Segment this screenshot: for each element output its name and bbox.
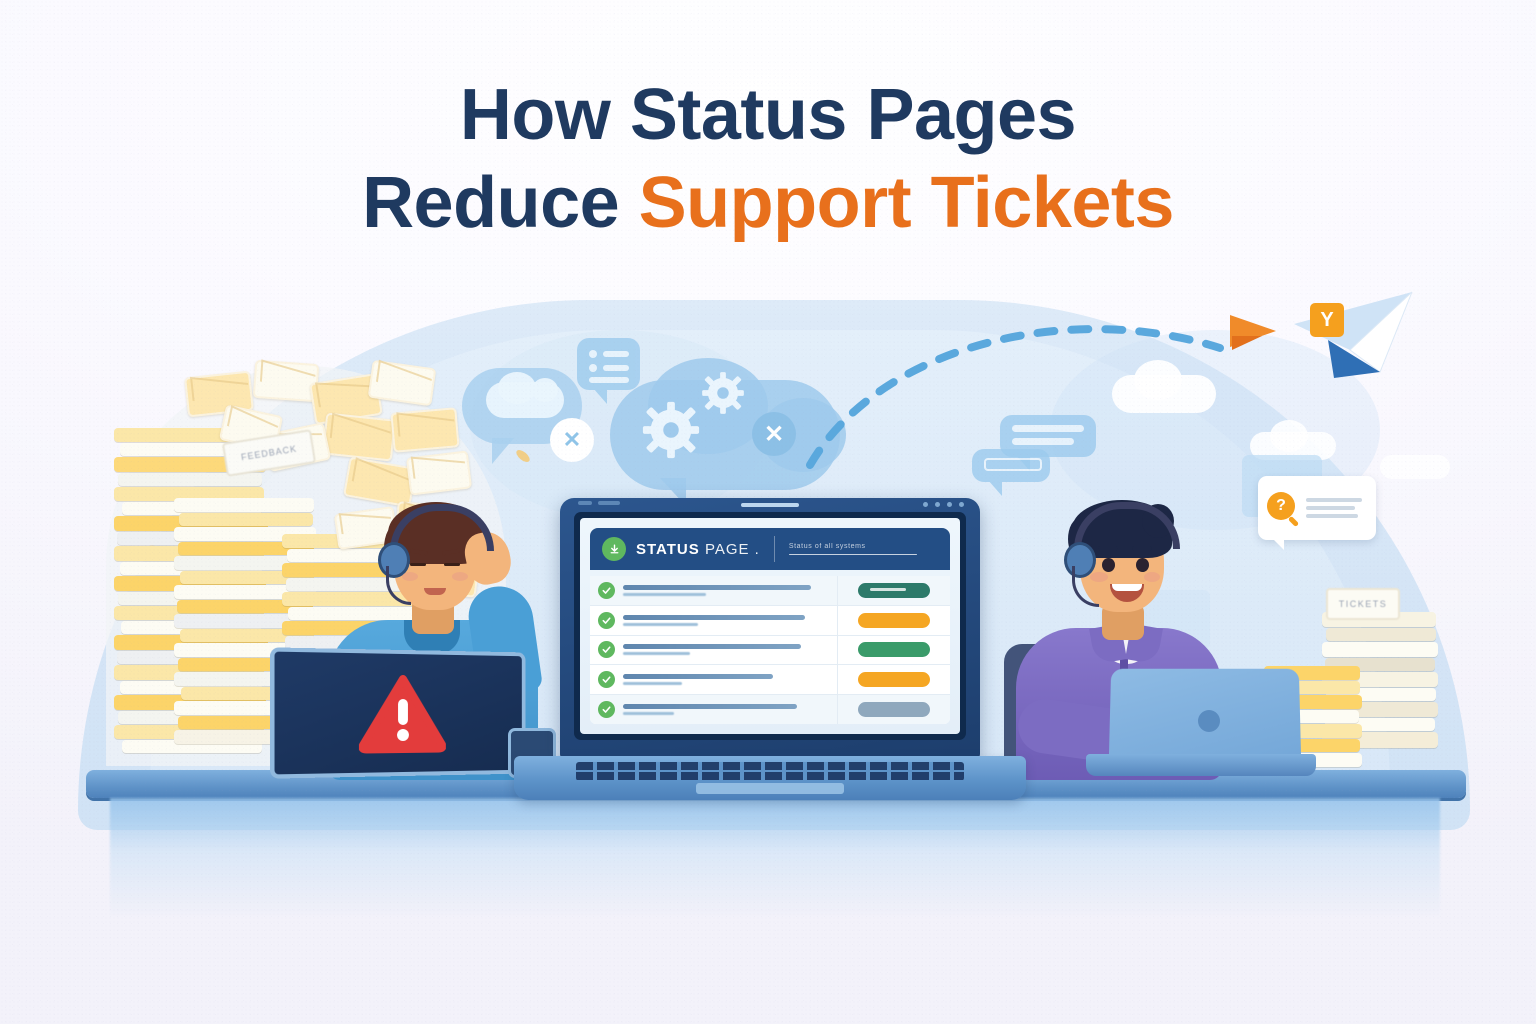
title-line-1: How Status Pages bbox=[0, 72, 1536, 160]
row-status-cell bbox=[837, 665, 950, 694]
row-text-placeholder bbox=[623, 644, 829, 655]
cloud-icon bbox=[1380, 455, 1450, 479]
paper-plane-icon bbox=[1232, 336, 1262, 350]
cheek-blush bbox=[452, 572, 468, 581]
table-row[interactable] bbox=[590, 606, 950, 636]
eyebrow bbox=[1132, 546, 1152, 551]
cheek-blush bbox=[1144, 572, 1160, 582]
check-circle-icon bbox=[598, 582, 615, 599]
page-title: How Status Pages Reduce Support Tickets bbox=[0, 72, 1536, 248]
x-circle-icon: ✕ bbox=[752, 412, 796, 456]
card-text-lines bbox=[1306, 498, 1367, 518]
illustration-canvas: ✕ bbox=[0, 0, 1536, 1024]
check-circle-icon bbox=[598, 671, 615, 688]
chat-bubble-icon bbox=[577, 338, 640, 390]
laptop-bezel-marks bbox=[578, 501, 620, 505]
laptop-screen-bezel: STATUS PAGE . Status of all systems bbox=[574, 512, 966, 740]
row-text-placeholder bbox=[623, 615, 829, 626]
laptop-trackpad[interactable] bbox=[696, 783, 844, 794]
check-circle-icon bbox=[598, 612, 615, 629]
check-circle-icon bbox=[598, 701, 615, 718]
dashed-arc-icon bbox=[800, 290, 1360, 470]
status-badge bbox=[858, 613, 930, 628]
row-status-cell bbox=[837, 576, 950, 605]
mouth-frown-icon bbox=[424, 588, 446, 595]
row-text-placeholder bbox=[623, 674, 829, 685]
badge-icon: Y bbox=[1310, 303, 1344, 337]
eye-icon bbox=[1102, 558, 1115, 572]
download-circle-icon bbox=[602, 537, 626, 561]
status-page-title: STATUS PAGE . bbox=[636, 541, 760, 558]
header-divider bbox=[774, 536, 775, 562]
eye-icon bbox=[1136, 558, 1149, 572]
row-text-placeholder bbox=[623, 585, 829, 596]
status-badge bbox=[858, 642, 930, 657]
cloud-icon bbox=[532, 378, 558, 402]
x-circle-icon: ✕ bbox=[550, 418, 594, 462]
alert-laptop bbox=[270, 647, 525, 778]
status-badge bbox=[858, 672, 930, 687]
status-page-meta: Status of all systems bbox=[789, 543, 938, 556]
eyebrow bbox=[1098, 546, 1118, 551]
agent-laptop bbox=[1086, 668, 1316, 780]
status-page-title-light: PAGE . bbox=[700, 541, 760, 558]
table-row[interactable] bbox=[590, 636, 950, 666]
ticket-stack-label: TICKETS bbox=[1326, 588, 1400, 620]
laptop-lid: STATUS PAGE . Status of all systems bbox=[560, 498, 980, 760]
status-badge bbox=[858, 702, 930, 717]
paper-plane-icon bbox=[1288, 288, 1416, 378]
help-search-card: ? bbox=[1258, 476, 1376, 540]
table-row[interactable] bbox=[590, 695, 950, 724]
eye-closed-icon bbox=[410, 563, 426, 566]
status-page-laptop: STATUS PAGE . Status of all systems bbox=[560, 498, 980, 798]
warning-triangle-icon bbox=[359, 672, 446, 753]
envelope-icon bbox=[322, 412, 396, 461]
status-page-meta-text: Status of all systems bbox=[789, 543, 938, 550]
row-text-placeholder bbox=[623, 704, 829, 715]
table-row[interactable] bbox=[590, 665, 950, 695]
row-status-cell bbox=[837, 606, 950, 635]
laptop-trackpad-dot bbox=[1198, 710, 1220, 732]
desk-reflection bbox=[110, 798, 1440, 918]
gear-icon bbox=[700, 370, 746, 416]
row-status-cell bbox=[837, 636, 950, 665]
row-status-cell bbox=[837, 695, 950, 724]
title-line-2-prefix: Reduce bbox=[362, 163, 639, 243]
check-circle-icon bbox=[598, 641, 615, 658]
status-page-title-strong: STATUS bbox=[636, 541, 700, 558]
gear-icon bbox=[640, 398, 702, 460]
envelope-icon bbox=[390, 407, 459, 453]
status-page-meta-rule bbox=[789, 554, 917, 556]
laptop-keyboard[interactable] bbox=[576, 762, 964, 781]
laptop-indicator-dots bbox=[923, 502, 964, 507]
title-line-2-accent: Support Tickets bbox=[639, 163, 1174, 243]
laptop-base bbox=[514, 756, 1026, 800]
magnifier-question-icon: ? bbox=[1267, 492, 1299, 524]
table-row[interactable] bbox=[590, 576, 950, 606]
cheek-blush bbox=[402, 572, 418, 581]
status-badge bbox=[858, 583, 930, 598]
cheek-blush bbox=[1090, 572, 1108, 582]
status-page-rows bbox=[590, 576, 950, 724]
envelope-icon bbox=[253, 360, 319, 402]
eye-closed-icon bbox=[444, 563, 460, 566]
status-page-screen: STATUS PAGE . Status of all systems bbox=[580, 518, 960, 734]
laptop-camera-bar bbox=[741, 503, 799, 507]
title-line-2: Reduce Support Tickets bbox=[0, 160, 1536, 248]
status-page-header: STATUS PAGE . Status of all systems bbox=[590, 528, 950, 570]
